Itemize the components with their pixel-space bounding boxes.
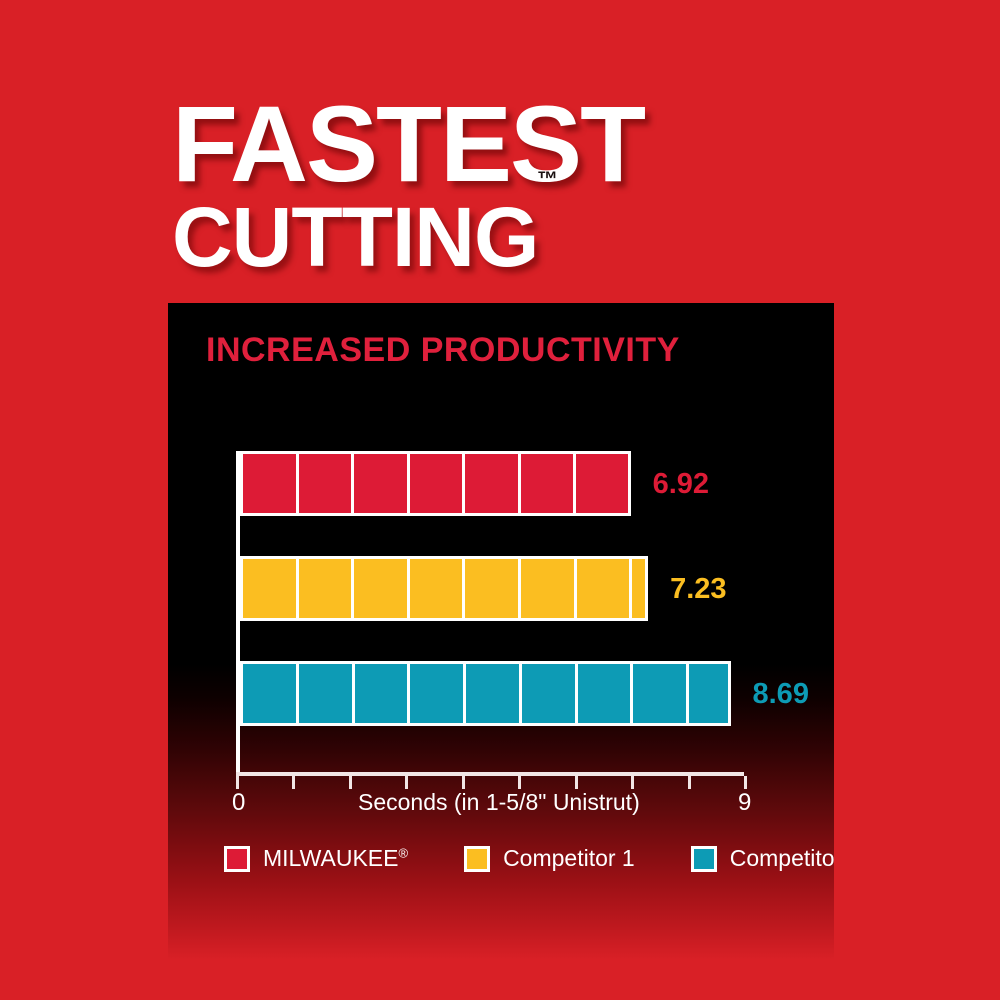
- x-axis-line: [236, 772, 744, 776]
- x-axis-tick: [462, 776, 465, 789]
- bar-segment-partial: [632, 559, 645, 618]
- x-axis-max-label: 9: [738, 789, 751, 817]
- x-axis-tick: [631, 776, 634, 789]
- bar-segment: [465, 559, 521, 618]
- bar: [240, 556, 648, 621]
- legend-swatch-icon: [224, 846, 250, 872]
- x-axis-tick: [575, 776, 578, 789]
- headline-block: FASTEST ™ CUTTING: [0, 96, 1000, 278]
- x-axis-tick: [744, 776, 747, 789]
- bar-segment: [410, 454, 466, 513]
- bar-segment: [577, 559, 633, 618]
- bar-segment: [410, 559, 466, 618]
- bar-segment: [466, 664, 522, 723]
- chart-legend: MILWAUKEE®Competitor 1Competitor 2: [224, 845, 834, 872]
- bar-value-label: 8.69: [753, 678, 809, 711]
- legend-item: Competitor 1: [464, 845, 635, 872]
- headline-primary: FASTEST ™: [172, 96, 644, 192]
- x-axis-tick: [236, 776, 239, 789]
- legend-item: MILWAUKEE®: [224, 845, 408, 872]
- legend-label: Competitor 1: [503, 845, 635, 872]
- bar-segment: [355, 664, 411, 723]
- legend-swatch-icon: [464, 846, 490, 872]
- legend-swatch-icon: [691, 846, 717, 872]
- chart-panel: INCREASED PRODUCTIVITY 6.927.238.69 0 Se…: [168, 303, 834, 960]
- x-axis-tick: [688, 776, 691, 789]
- bar-segment: [299, 664, 355, 723]
- bar-segment: [633, 664, 689, 723]
- legend-label: Competitor 2: [730, 845, 834, 872]
- x-axis-min-label: 0: [232, 789, 245, 817]
- bar-segment-partial: [576, 454, 627, 513]
- plot-area: 6.927.238.69: [236, 451, 810, 776]
- bar: [240, 661, 731, 726]
- bar-segment: [299, 559, 355, 618]
- bar-segment: [522, 664, 578, 723]
- legend-label: MILWAUKEE®: [263, 845, 408, 872]
- headline-secondary: CUTTING: [172, 196, 1000, 278]
- chart-title: INCREASED PRODUCTIVITY: [206, 331, 680, 370]
- poster-canvas: FASTEST ™ CUTTING INCREASED PRODUCTIVITY…: [0, 0, 1000, 1000]
- x-axis-title: Seconds (in 1-5/8" Unistrut): [358, 789, 640, 816]
- bar-segment: [299, 454, 355, 513]
- headline-primary-text: FASTEST: [172, 83, 644, 204]
- bar-segment: [410, 664, 466, 723]
- x-axis-tick: [292, 776, 295, 789]
- bar-segment: [243, 454, 299, 513]
- x-axis-tick: [405, 776, 408, 789]
- bar-segment: [243, 559, 299, 618]
- x-axis-tick: [349, 776, 352, 789]
- bar-segment: [578, 664, 634, 723]
- bar-segment: [465, 454, 521, 513]
- legend-item: Competitor 2: [691, 845, 834, 872]
- bar-value-label: 7.23: [670, 573, 726, 606]
- x-axis-tick: [518, 776, 521, 789]
- bar-segment: [243, 664, 299, 723]
- bar-segment-partial: [689, 664, 728, 723]
- bar-segment: [354, 559, 410, 618]
- trademark-icon: ™: [537, 132, 558, 228]
- bar-segment: [521, 559, 577, 618]
- bar-value-label: 6.92: [653, 468, 709, 501]
- bar: [240, 451, 631, 516]
- bar-segment: [521, 454, 577, 513]
- bar-segment: [354, 454, 410, 513]
